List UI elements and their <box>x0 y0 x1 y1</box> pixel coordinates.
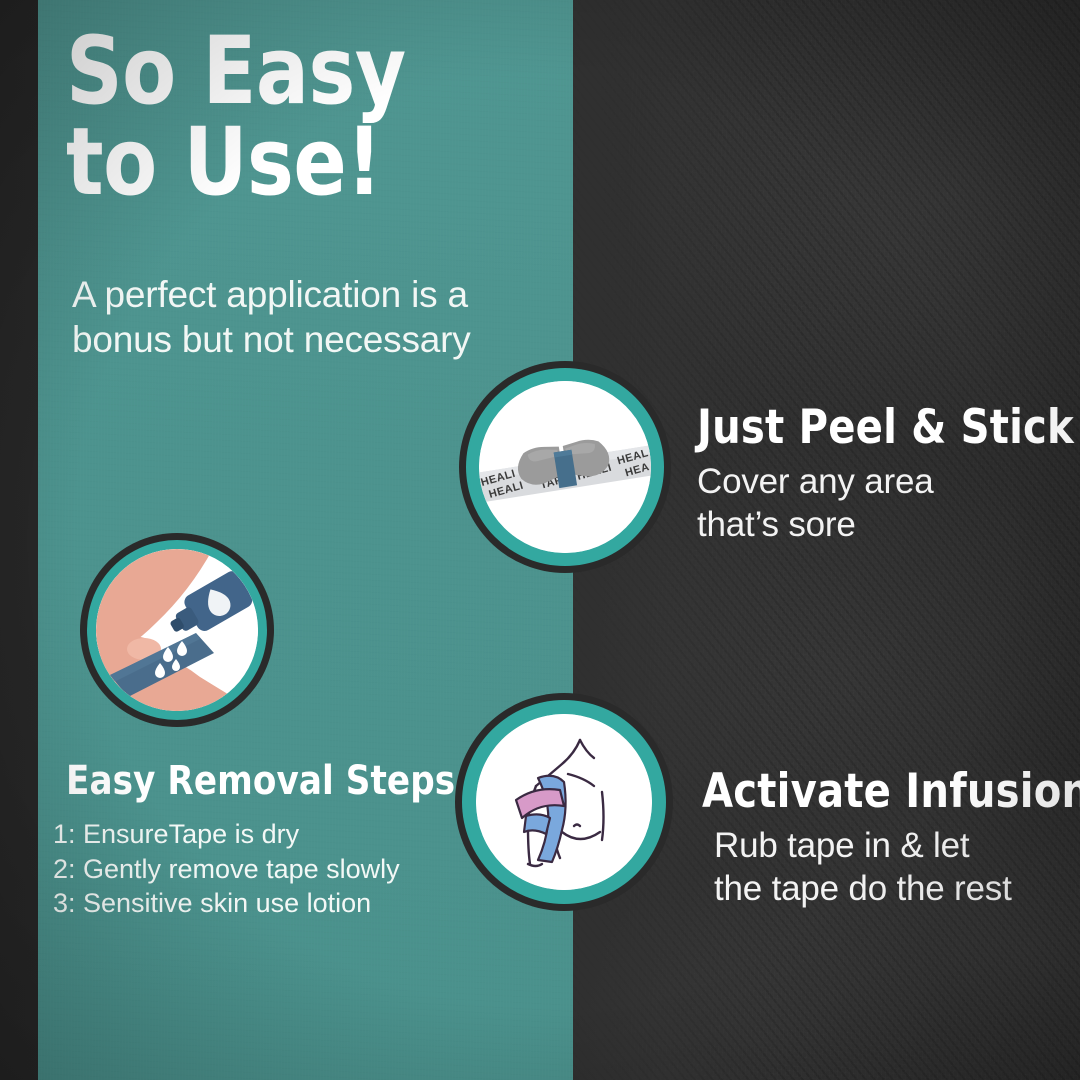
list-item: 3: Sensitive skin use lotion <box>53 886 483 921</box>
badge-wet-removal <box>80 533 274 727</box>
badge-activate-infusion <box>455 693 673 911</box>
peel-and-stick-tape-illustration: HEALI HEALI TAP HEALI HEAL HEA <box>479 381 651 553</box>
feature-body: Rub tape in & let the tape do the rest <box>714 824 1080 911</box>
feature-body: Cover any area that’s sore <box>697 460 1067 547</box>
page-title: So Easy to Use! <box>66 26 512 208</box>
removal-steps-list: 1: EnsureTape is dry 2: Gently remove ta… <box>53 817 483 921</box>
wet-removal-illustration <box>96 549 258 711</box>
feature-title: Activate Infusion <box>702 768 1061 815</box>
feature-title: Just Peel & Stick <box>697 404 1049 451</box>
infographic-canvas: So Easy to Use! A perfect application is… <box>0 0 1080 1080</box>
removal-steps-title: Easy Removal Steps <box>66 758 455 804</box>
list-item: 2: Gently remove tape slowly <box>53 852 483 887</box>
tape-on-shoulder-illustration <box>476 714 652 890</box>
page-subtitle: A perfect application is a bonus but not… <box>72 272 542 362</box>
list-item: 1: EnsureTape is dry <box>53 817 483 852</box>
badge-peel-and-stick: HEALI HEALI TAP HEALI HEAL HEA <box>459 361 671 573</box>
feature-block-peel-and-stick: Just Peel & Stick Cover any area that’s … <box>697 404 1067 547</box>
feature-block-activate-infusion: Activate Infusion Rub tape in & let the … <box>702 768 1080 911</box>
